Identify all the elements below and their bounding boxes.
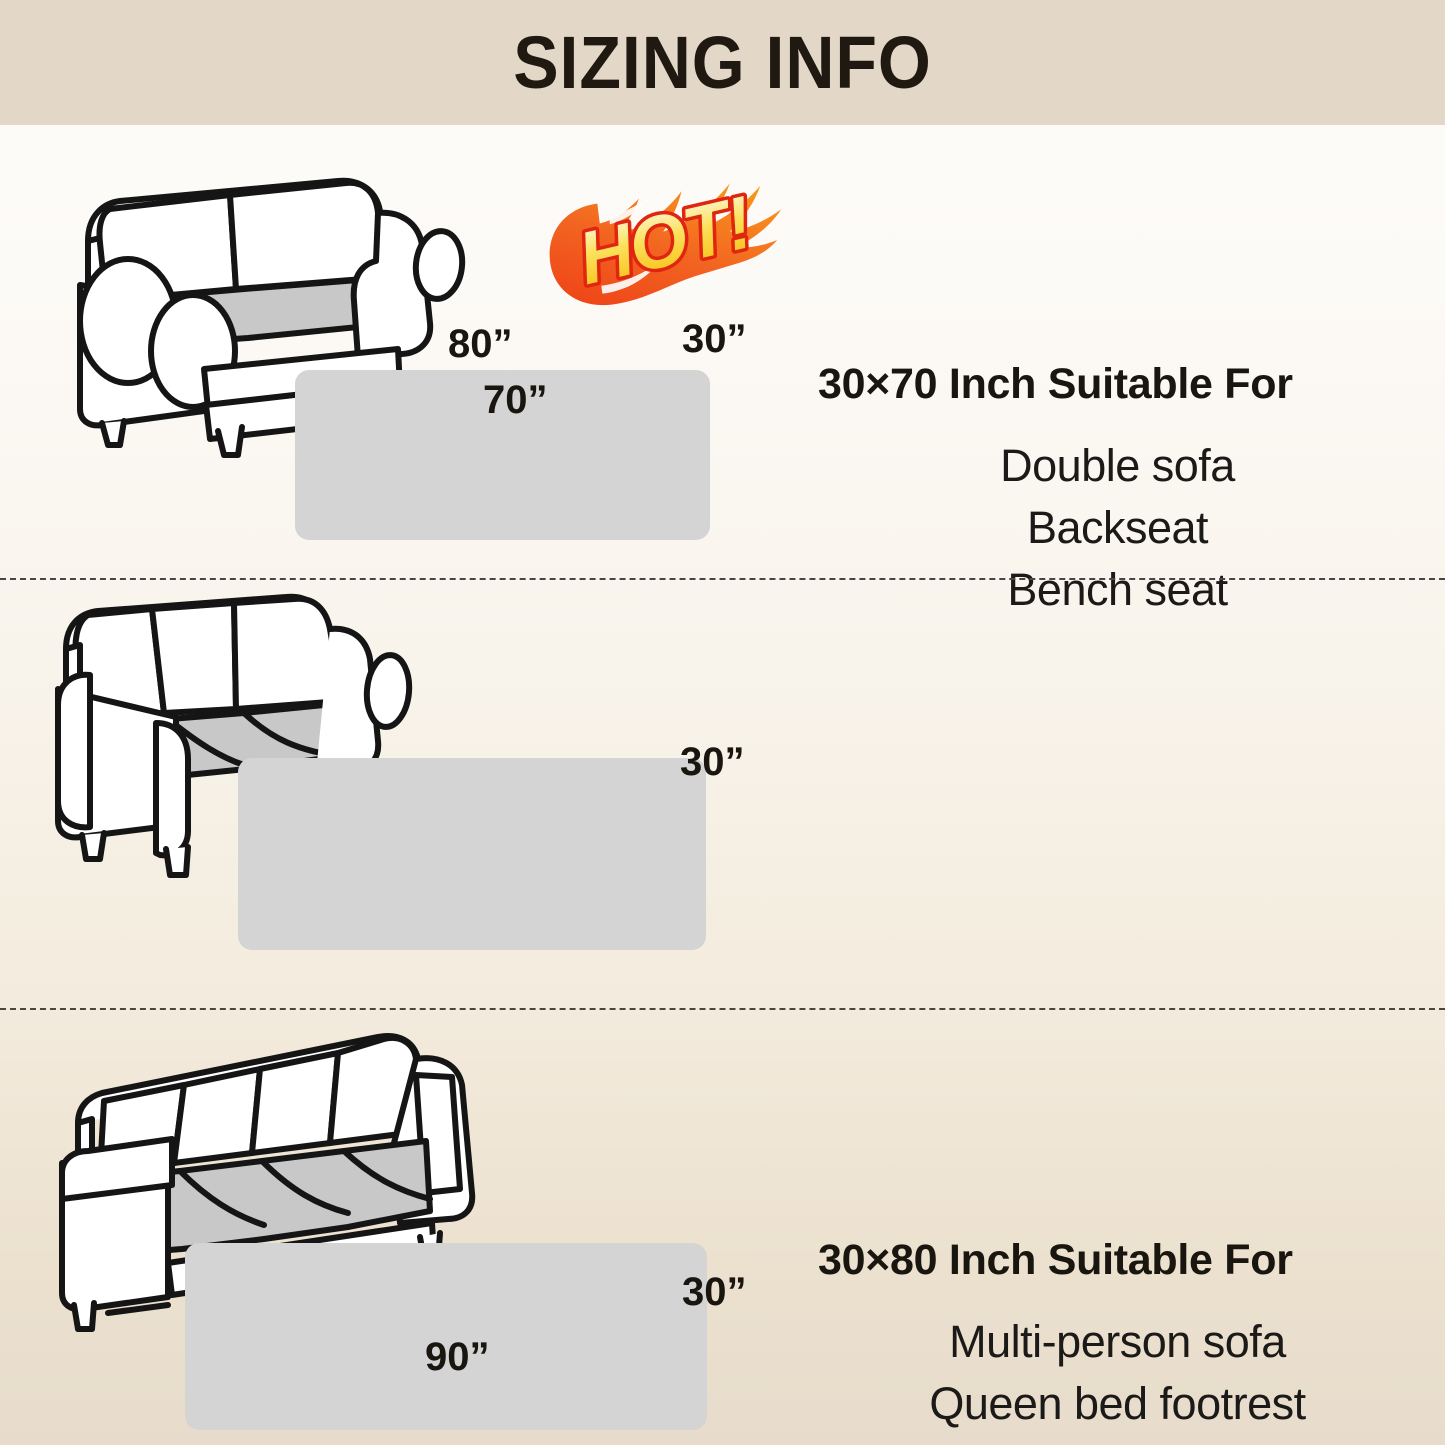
list-item: Double sofa (790, 435, 1445, 497)
dimension-rect-30x80 (238, 758, 706, 950)
hot-text: HOT! (571, 180, 759, 300)
illustration-30x90 (0, 1008, 790, 1445)
header-band: SIZING INFO (0, 0, 1445, 125)
page-title: SIZING INFO (513, 20, 932, 105)
height-label-30x80: 30” (680, 740, 745, 785)
height-label-30x70: 30” (682, 317, 747, 362)
list-item: Backseat (790, 497, 1445, 559)
size-section-30x90: 30×90 Inch Suitable For Multi-person sof… (0, 1008, 1445, 1445)
width-label-30x70: 70” (483, 378, 548, 423)
illustration-30x80 (0, 578, 790, 1008)
width-label-30x80: 80” (448, 322, 513, 367)
section-divider (0, 578, 1445, 580)
section-divider (0, 1008, 1445, 1010)
height-label-30x90: 30” (682, 1270, 747, 1315)
sizing-info-infographic: SIZING INFO (0, 0, 1445, 1445)
section-heading-30x70: 30×70 Inch Suitable For (818, 360, 1445, 409)
width-label-30x90: 90” (425, 1335, 490, 1380)
size-section-30x80: 30×80 Inch Suitable For Multi-person sof… (0, 578, 1445, 1008)
svg-text:HOT!: HOT! (571, 180, 759, 300)
